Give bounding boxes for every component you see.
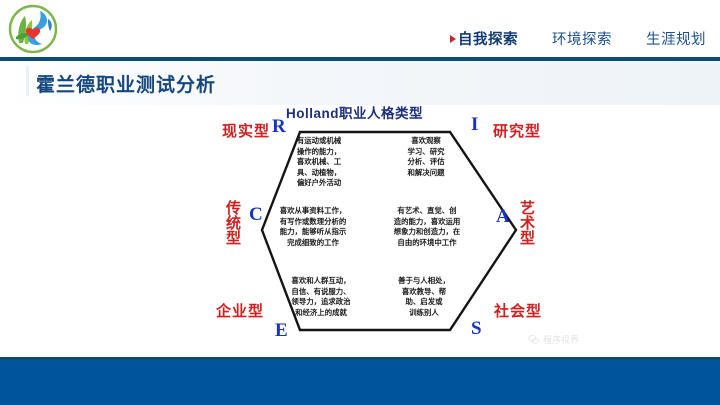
type-description-social: 善于与人相处， 喜欢教导、帮 助、启发或 训练别人 [384,276,464,318]
watermark: 程序视界 [528,333,579,346]
vertex-letter-R: R [272,116,286,138]
nav-item-label: 环境探索 [552,32,612,48]
type-label-artistic: 艺术型 [520,202,534,247]
holland-hexagon-diagram: Holland职业人格类型 R I A S E C 现实型 研究型 艺术型 社会… [228,104,544,356]
main-navigation[interactable]: 自我探索 环境探索 生涯规划 [450,28,706,49]
nav-item-label: 自我探索 [458,32,518,48]
career-guidance-logo [7,3,59,55]
vertex-letter-S: S [471,318,482,340]
page-header: 自我探索 环境探索 生涯规划 [0,0,720,58]
diagram-title: Holland职业人格类型 [286,102,423,122]
vertex-letter-E: E [275,320,288,342]
nav-item-label: 生涯规划 [646,32,706,48]
vertex-letter-A: A [496,206,510,228]
type-label-investigative: 研究型 [493,120,541,141]
type-label-enterprising: 企业型 [216,300,264,321]
type-label-conventional: 传统型 [226,202,240,247]
page-title: 霍兰德职业测试分析 [36,70,216,97]
wechat-icon [528,334,539,345]
watermark-text: 程序视界 [543,333,579,346]
type-label-realistic: 现实型 [222,120,270,141]
footer-bar [0,360,720,405]
type-label-social: 社会型 [494,300,542,321]
vertex-letter-C: C [249,204,263,226]
type-description-enterprising: 喜欢和人群互动， 自信、有说服力、 领导力，追求政治 和经济上的成就 [272,276,370,318]
active-marker-icon [450,35,456,43]
title-accent-bar [26,66,29,96]
type-description-investigative: 喜欢观察 学习、研究 分析、评估 和解决问题 [386,136,466,178]
type-description-conventional: 喜欢从事资料工作， 有写作或数理分析的 能力，能够听从指示 完成细致的工作 [264,206,362,248]
vertex-letter-I: I [471,114,478,136]
type-description-artistic: 有艺术、直觉、创 造的能力，喜欢运用 想象力和创造力，在 自由的环境中工作 [376,206,478,248]
nav-item-self-exploration[interactable]: 自我探索 [450,28,518,49]
nav-item-environment-exploration[interactable]: 环境探索 [552,28,612,49]
type-description-realistic: 有运动或机械 操作的能力， 喜欢机械、工 具、动植物， 偏好户外活动 [276,136,362,189]
nav-item-career-planning[interactable]: 生涯规划 [646,28,706,49]
